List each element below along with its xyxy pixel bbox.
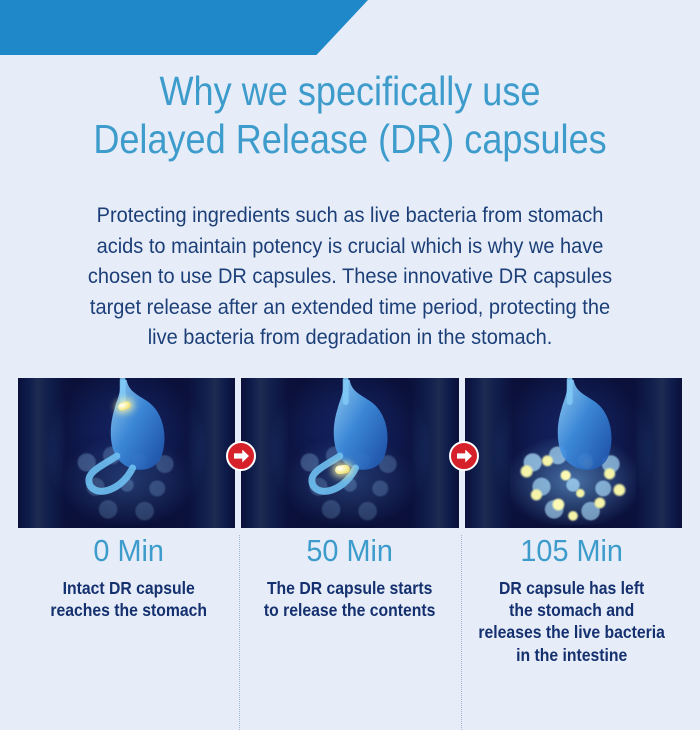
panel-stage-3 xyxy=(465,378,682,528)
caption-description-2: The DR capsule starts to release the con… xyxy=(245,577,454,622)
caption-1-line-2: reaches the stomach xyxy=(34,599,222,621)
page-title-line-2: Delayed Release (DR) capsules xyxy=(42,116,658,164)
right-arrow-badge-1 xyxy=(226,441,256,471)
caption-3-line-3: releases the live bacteria xyxy=(477,621,665,643)
caption-description-1: Intact DR capsule reaches the stomach xyxy=(24,577,233,622)
digestion-illustration-strip xyxy=(18,378,682,528)
caption-description-3: DR capsule has left the stomach and rele… xyxy=(467,577,676,667)
caption-time-1: 0 Min xyxy=(31,535,226,568)
caption-time-3: 105 Min xyxy=(474,535,669,568)
caption-column-1: 0 Min Intact DR capsule reaches the stom… xyxy=(18,535,239,695)
timeline-captions: 0 Min Intact DR capsule reaches the stom… xyxy=(18,535,682,695)
intro-line-3: chosen to use DR capsules. These innovat… xyxy=(58,261,642,292)
intro-paragraph: Protecting ingredients such as live bact… xyxy=(36,200,664,353)
caption-2-line-2: to release the contents xyxy=(256,599,444,621)
panel-stage-1 xyxy=(18,378,235,528)
caption-3-line-4: in the intestine xyxy=(477,644,665,666)
caption-3-line-2: the stomach and xyxy=(477,599,665,621)
delayed-release-banner xyxy=(0,0,368,55)
stomach-icon xyxy=(465,378,682,528)
intro-line-1: Protecting ingredients such as live bact… xyxy=(58,200,642,231)
right-arrow-icon xyxy=(457,450,472,463)
intro-line-5: live bacteria from degradation in the st… xyxy=(58,322,642,353)
caption-column-3: 105 Min DR capsule has left the stomach … xyxy=(461,535,682,695)
intro-line-2: acids to maintain potency is crucial whi… xyxy=(58,231,642,262)
caption-column-2: 50 Min The DR capsule starts to release … xyxy=(239,535,460,695)
intro-line-4: target release after an extended time pe… xyxy=(58,292,642,323)
page-title: Why we specifically use Delayed Release … xyxy=(0,68,700,164)
right-arrow-badge-2 xyxy=(449,441,479,471)
panel-stage-2 xyxy=(241,378,458,528)
stomach-icon xyxy=(241,378,458,528)
caption-1-line-1: Intact DR capsule xyxy=(34,577,222,599)
caption-2-line-1: The DR capsule starts xyxy=(256,577,444,599)
right-arrow-icon xyxy=(234,450,249,463)
caption-3-line-1: DR capsule has left xyxy=(477,577,665,599)
caption-time-2: 50 Min xyxy=(253,535,448,568)
page-title-line-1: Why we specifically use xyxy=(42,68,658,116)
